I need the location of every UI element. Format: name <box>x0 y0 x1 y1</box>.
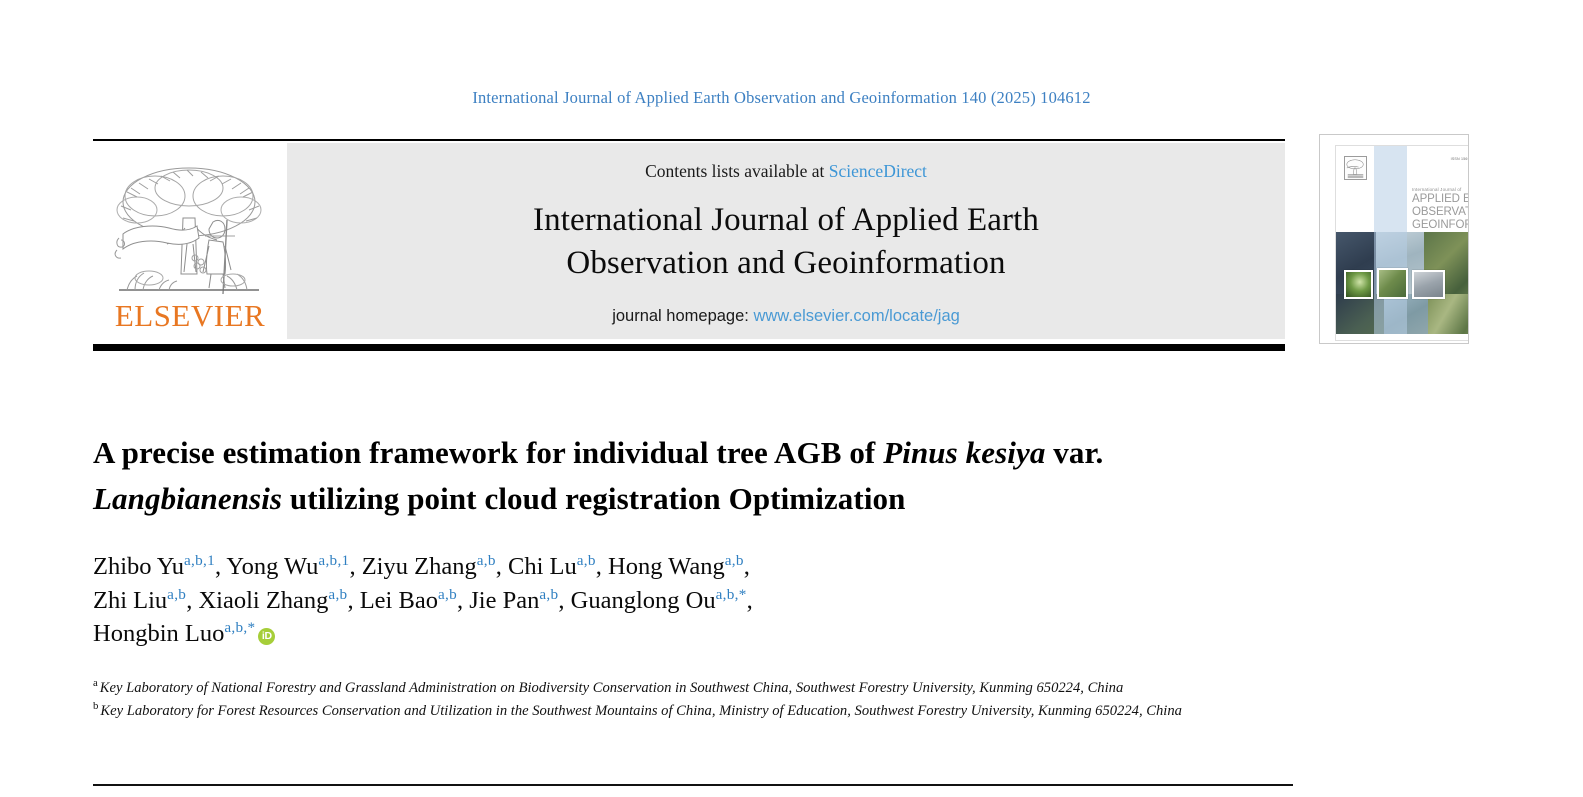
author-name: Hong Wang <box>608 553 725 580</box>
cover-issn: ISSN 1569-8432 <box>1451 157 1469 161</box>
author-affiliation-marks[interactable]: a,b,* <box>716 586 747 603</box>
author-affiliation-marks[interactable]: a,b,* <box>224 619 255 636</box>
affiliation-item: bKey Laboratory for Forest Resources Con… <box>93 700 1293 723</box>
author-separator: , <box>496 553 508 580</box>
contents-lists-label: Contents lists available at <box>645 161 824 181</box>
masthead-bottom-bar <box>93 344 1285 351</box>
author-affiliation-marks[interactable]: a,b <box>539 586 558 603</box>
author-separator: , <box>747 587 753 614</box>
journal-homepage-link[interactable]: www.elsevier.com/locate/jag <box>753 307 959 325</box>
author-entry[interactable]: Guanglong Oua,b,* <box>571 587 747 614</box>
author-name: Zhibo Yu <box>93 553 184 580</box>
cover-footer-band <box>1336 334 1469 340</box>
author-affiliation-marks[interactable]: a,b,1 <box>184 552 215 569</box>
cover-inset-cityscape <box>1412 270 1445 299</box>
cover-title-line-2: OBSERVATION AND <box>1412 206 1469 219</box>
author-name: Zhi Liu <box>93 587 167 614</box>
author-affiliation-marks[interactable]: a,b <box>438 586 457 603</box>
author-affiliation-marks[interactable]: a,b <box>167 586 186 603</box>
affiliation-item: aKey Laboratory of National Forestry and… <box>93 677 1293 700</box>
author-affiliation-marks[interactable]: a,b <box>725 552 744 569</box>
author-entry[interactable]: Lei Baoa,b <box>360 587 457 614</box>
author-affiliation-marks[interactable]: a,b,1 <box>318 552 349 569</box>
article-head: A precise estimation framework for indiv… <box>93 430 1293 722</box>
page-title: A precise estimation framework for indiv… <box>93 430 1293 521</box>
cover-kicker: International Journal of <box>1412 187 1461 192</box>
affiliation-mark: b <box>93 700 98 712</box>
author-entry[interactable]: Zhibo Yua,b,1 <box>93 553 215 580</box>
author-name: Xiaoli Zhang <box>198 587 328 614</box>
affiliation-mark: a <box>93 677 98 689</box>
author-name: Ziyu Zhang <box>362 553 477 580</box>
author-affiliation-marks[interactable]: a,b <box>577 552 596 569</box>
title-species-2: Langbianensis <box>93 481 282 516</box>
author-entry[interactable]: Ziyu Zhanga,b <box>362 553 496 580</box>
author-name: Guanglong Ou <box>571 587 716 614</box>
author-separator: , <box>215 553 226 580</box>
orcid-icon[interactable]: iD <box>258 628 275 645</box>
affiliation-list: aKey Laboratory of National Forestry and… <box>93 677 1293 723</box>
title-segment-1: A precise estimation framework for indiv… <box>93 435 883 470</box>
author-entry[interactable]: Hong Wanga,b <box>608 553 744 580</box>
elsevier-logo: ELSEVIER <box>93 143 287 339</box>
author-name: Chi Lu <box>508 553 577 580</box>
article-bottom-rule <box>93 784 1293 786</box>
journal-title: International Journal of Applied Earth O… <box>533 199 1039 285</box>
journal-citation-line: International Journal of Applied Earth O… <box>0 88 1563 108</box>
cover-title-line-3: GEOINFORMATION <box>1412 219 1469 232</box>
journal-banner: Contents lists available at ScienceDirec… <box>287 143 1285 339</box>
contents-lists-line: Contents lists available at ScienceDirec… <box>645 161 927 182</box>
affiliation-text: Key Laboratory of National Forestry and … <box>100 680 1123 696</box>
author-name: Yong Wu <box>226 553 318 580</box>
cover-photo-collage <box>1336 232 1469 340</box>
author-affiliation-marks[interactable]: a,b <box>328 586 347 603</box>
author-entry[interactable]: Zhi Liua,b <box>93 587 186 614</box>
author-list: Zhibo Yua,b,1, Yong Wua,b,1, Ziyu Zhanga… <box>93 550 1293 651</box>
author-separator: , <box>596 553 608 580</box>
journal-title-line-2: Observation and Geoinformation <box>533 242 1039 285</box>
masthead-top-rule <box>93 139 1285 141</box>
author-name: Jie Pan <box>469 587 539 614</box>
journal-cover-thumbnail[interactable]: ISSN 1569-8432 International Journal of … <box>1319 134 1469 344</box>
sciencedirect-link[interactable]: ScienceDirect <box>829 161 927 181</box>
journal-homepage-label: journal homepage: <box>612 307 749 325</box>
author-entry[interactable]: Xiaoli Zhanga,b <box>198 587 347 614</box>
title-species-1: Pinus kesiya <box>883 435 1045 470</box>
cover-inset-delta-map <box>1377 268 1408 299</box>
author-name: Hongbin Luo <box>93 620 224 647</box>
title-segment-2: var. <box>1045 435 1103 470</box>
cover-inset-forest-canopy <box>1344 270 1373 299</box>
author-entry[interactable]: Hongbin Luoa,b,* <box>93 620 255 647</box>
elsevier-tree-icon <box>109 158 271 300</box>
cover-journal-title: APPLIED EARTH OBSERVATION AND GEOINFORMA… <box>1412 193 1469 232</box>
paper-first-page: International Journal of Applied Earth O… <box>0 0 1583 797</box>
author-separator: , <box>186 587 198 614</box>
title-segment-3: utilizing point cloud registration Optim… <box>282 481 905 516</box>
cover-title-line-1: APPLIED EARTH <box>1412 193 1469 206</box>
author-affiliation-marks[interactable]: a,b <box>477 552 496 569</box>
elsevier-wordmark: ELSEVIER <box>115 300 265 331</box>
author-name: Lei Bao <box>360 587 438 614</box>
author-entry[interactable]: Yong Wua,b,1 <box>226 553 349 580</box>
author-separator: , <box>558 587 570 614</box>
author-entry[interactable]: Jie Pana,b <box>469 587 558 614</box>
journal-cover-artwork: ISSN 1569-8432 International Journal of … <box>1335 145 1469 341</box>
author-separator: , <box>744 553 750 580</box>
cover-elsevier-logo-icon <box>1344 156 1367 180</box>
author-separator: , <box>347 587 359 614</box>
author-separator: , <box>457 587 469 614</box>
journal-title-line-1: International Journal of Applied Earth <box>533 199 1039 242</box>
author-entry[interactable]: Chi Lua,b <box>508 553 596 580</box>
journal-masthead: ELSEVIER Contents lists available at Sci… <box>93 143 1285 339</box>
author-separator: , <box>349 553 361 580</box>
journal-homepage-line: journal homepage: www.elsevier.com/locat… <box>612 307 960 326</box>
affiliation-text: Key Laboratory for Forest Resources Cons… <box>100 703 1182 719</box>
